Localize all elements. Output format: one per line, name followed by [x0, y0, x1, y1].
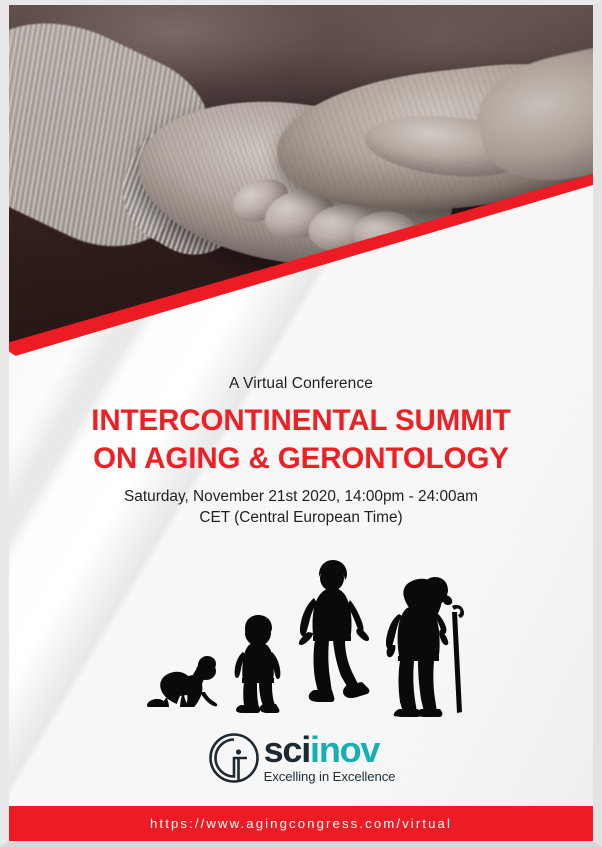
event-timezone-line: CET (Central European Time): [0, 507, 602, 528]
event-datetime: Saturday, November 21st 2020, 14:00pm - …: [0, 486, 602, 529]
hero-image-block: [0, 0, 602, 380]
silhouette-walking-adult: [299, 560, 369, 702]
sciinov-logo-text: sciinov Excelling in Excellence: [264, 732, 396, 783]
wordmark-sci: sci: [264, 729, 310, 770]
footer-url-bar: https://www.agingcongress.com/virtual: [9, 806, 593, 841]
photo-grain-overlay: [0, 0, 602, 352]
sciinov-logo: sciinov Excelling in Excellence: [0, 727, 602, 789]
page-title: INTERCONTINENTAL SUMMIT ON AGING & GERON…: [0, 402, 602, 478]
silhouette-toddler: [235, 615, 281, 713]
sciinov-logo-mark-icon: [207, 731, 261, 785]
aging-silhouettes-svg: [136, 552, 466, 717]
conference-poster: A Virtual Conference INTERCONTINENTAL SU…: [0, 0, 602, 847]
silhouette-crawling-baby: [147, 656, 217, 707]
aging-silhouettes-illustration: [0, 552, 602, 722]
page-title-line-2: ON AGING & GERONTOLOGY: [0, 440, 602, 478]
event-date-line: Saturday, November 21st 2020, 14:00pm - …: [0, 486, 602, 507]
headline-block: A Virtual Conference INTERCONTINENTAL SU…: [0, 375, 602, 528]
event-kicker: A Virtual Conference: [0, 375, 602, 393]
page-title-line-1: INTERCONTINENTAL SUMMIT: [0, 402, 602, 440]
conference-url-link[interactable]: https://www.agingcongress.com/virtual: [150, 816, 452, 831]
wordmark-inov: inov: [310, 729, 379, 770]
sciinov-tagline: Excelling in Excellence: [264, 770, 396, 783]
silhouette-elderly-with-cane: [386, 577, 464, 717]
hero-photo-holding-hands: [0, 0, 602, 352]
sciinov-wordmark: sciinov: [264, 732, 396, 768]
